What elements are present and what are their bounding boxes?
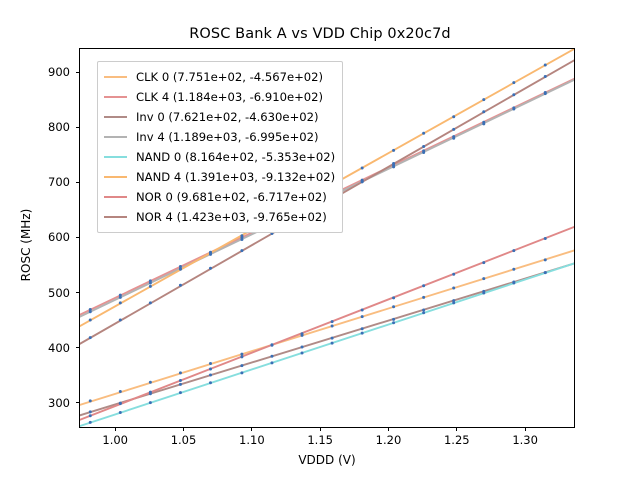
series-nand-0 — [80, 263, 575, 426]
series-inv-0 — [80, 263, 575, 415]
y-tick-label: 900 — [22, 65, 70, 79]
legend-color-swatch — [104, 96, 127, 98]
series-clk-0 — [80, 250, 575, 405]
x-tick-label: 1.00 — [85, 433, 145, 447]
y-tick-label: 800 — [22, 120, 70, 134]
chart-figure: ROSC Bank A vs VDD Chip 0x20c7d ROSC (MH… — [0, 0, 640, 480]
series-nor-0 — [80, 226, 575, 420]
x-tick-mark — [115, 428, 116, 432]
x-tick-mark — [388, 428, 389, 432]
legend-color-swatch — [104, 116, 127, 118]
y-axis-label: ROSC (MHz) — [19, 165, 33, 325]
y-tick-label: 300 — [22, 396, 70, 410]
legend-item[interactable]: CLK 4 (1.184e+03, -6.910e+02) — [104, 87, 335, 107]
x-axis-label: VDDD (V) — [79, 453, 575, 467]
legend-color-swatch — [104, 216, 127, 218]
legend-color-swatch — [104, 156, 127, 158]
x-tick-label: 1.20 — [358, 433, 418, 447]
legend-color-swatch — [104, 136, 127, 138]
legend-item[interactable]: CLK 0 (7.751e+02, -4.567e+02) — [104, 67, 335, 87]
legend-label: NOR 4 (1.423e+03, -9.765e+02) — [136, 210, 327, 224]
x-tick-mark — [456, 428, 457, 432]
legend-label: Inv 0 (7.621e+02, -4.630e+02) — [136, 110, 319, 124]
legend-item[interactable]: Inv 4 (1.189e+03, -6.995e+02) — [104, 127, 335, 147]
x-tick-label: 1.25 — [427, 433, 487, 447]
x-tick-mark — [320, 428, 321, 432]
legend-item[interactable]: NAND 0 (8.164e+02, -5.353e+02) — [104, 147, 335, 167]
x-tick-label: 1.15 — [290, 433, 350, 447]
x-tick-label: 1.10 — [222, 433, 282, 447]
legend-item[interactable]: Inv 0 (7.621e+02, -4.630e+02) — [104, 107, 335, 127]
x-tick-label: 1.05 — [154, 433, 214, 447]
x-tick-label: 1.30 — [495, 433, 555, 447]
x-tick-mark — [525, 428, 526, 432]
legend-label: Inv 4 (1.189e+03, -6.995e+02) — [136, 130, 319, 144]
x-tick-mark — [251, 428, 252, 432]
legend-label: CLK 4 (1.184e+03, -6.910e+02) — [136, 90, 323, 104]
chart-legend: CLK 0 (7.751e+02, -4.567e+02)CLK 4 (1.18… — [97, 61, 343, 233]
x-tick-mark — [183, 428, 184, 432]
legend-item[interactable]: NOR 0 (9.681e+02, -6.717e+02) — [104, 187, 335, 207]
legend-label: CLK 0 (7.751e+02, -4.567e+02) — [136, 70, 323, 84]
legend-color-swatch — [104, 176, 127, 178]
legend-item[interactable]: NOR 4 (1.423e+03, -9.765e+02) — [104, 207, 335, 227]
legend-label: NOR 0 (9.681e+02, -6.717e+02) — [136, 190, 327, 204]
legend-label: NAND 4 (1.391e+03, -9.132e+02) — [136, 170, 335, 184]
legend-item[interactable]: NAND 4 (1.391e+03, -9.132e+02) — [104, 167, 335, 187]
legend-color-swatch — [104, 196, 127, 198]
y-tick-label: 400 — [22, 341, 70, 355]
legend-color-swatch — [104, 76, 127, 78]
legend-label: NAND 0 (8.164e+02, -5.353e+02) — [136, 150, 335, 164]
chart-title: ROSC Bank A vs VDD Chip 0x20c7d — [0, 26, 640, 42]
